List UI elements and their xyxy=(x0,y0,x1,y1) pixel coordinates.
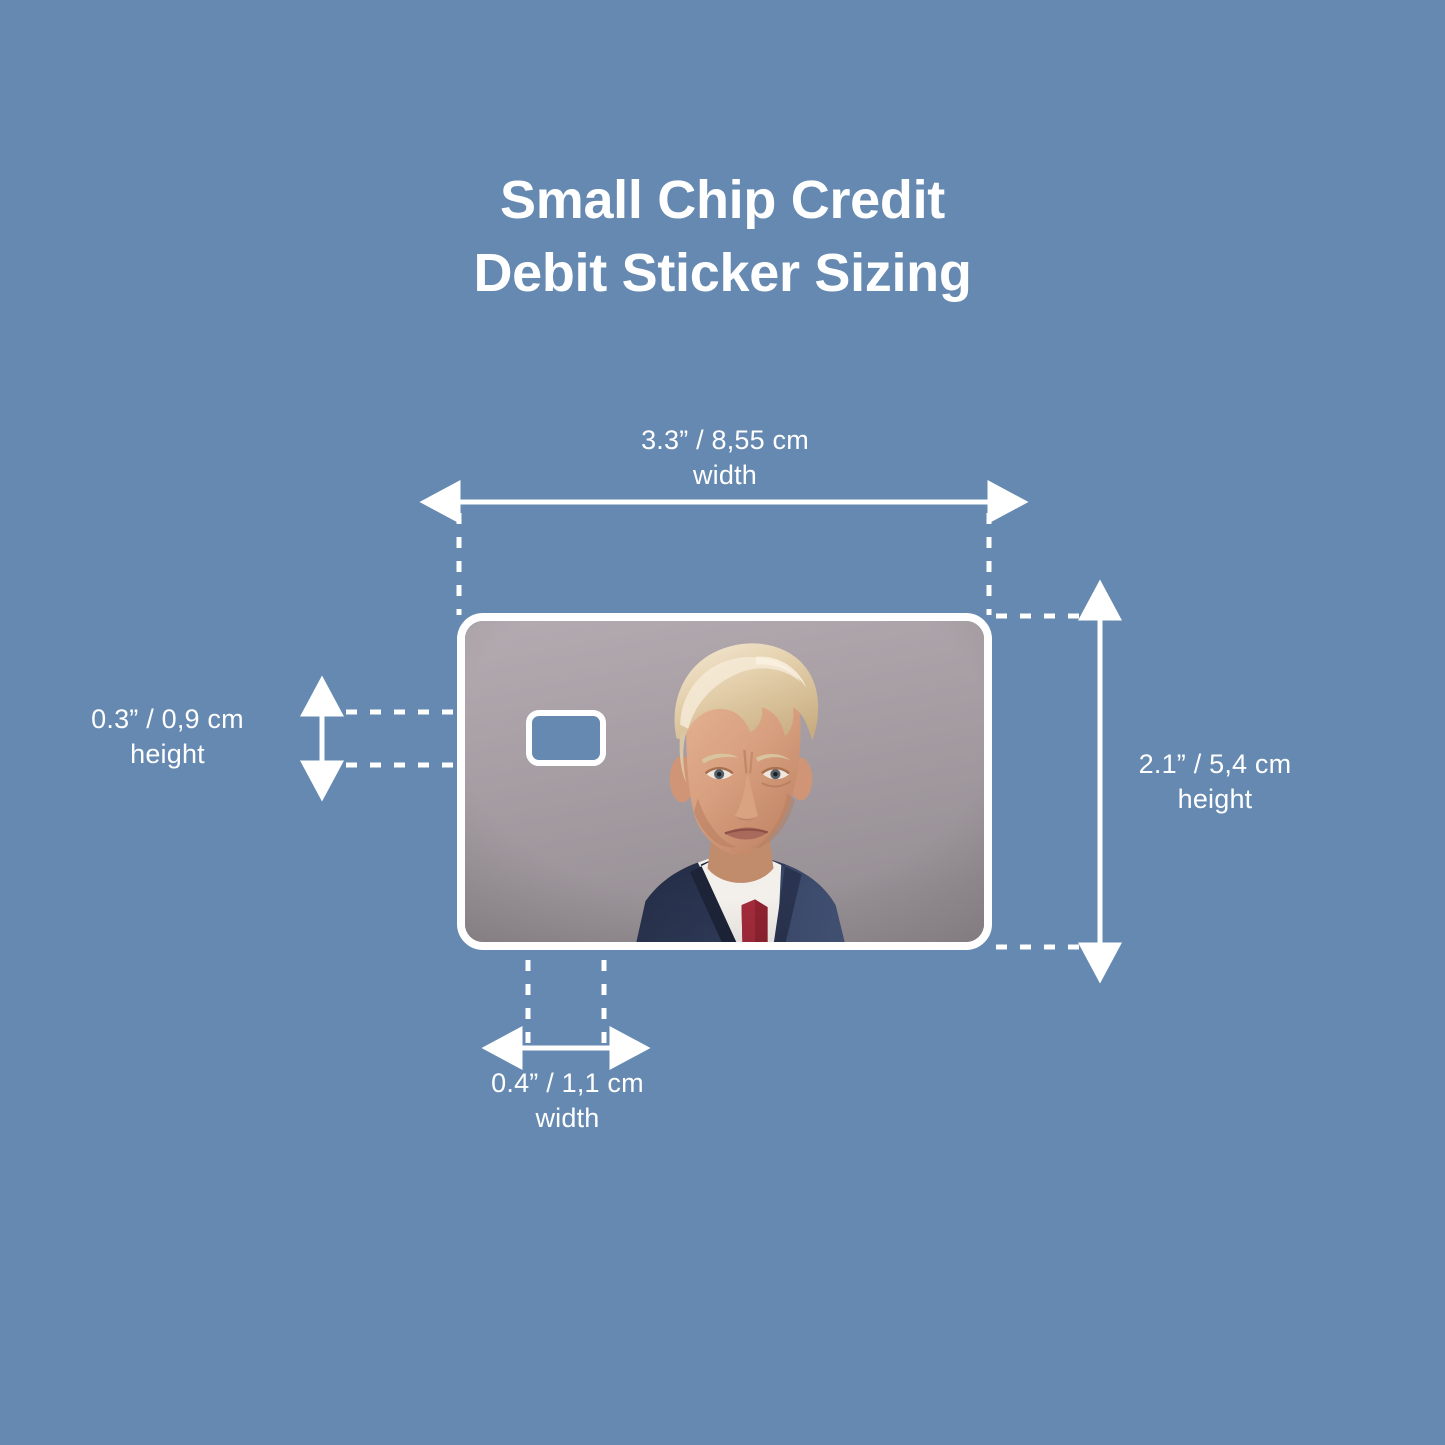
page-title: Small Chip Credit Debit Sticker Sizing xyxy=(0,164,1445,309)
sticker-sizing-diagram: Small Chip Credit Debit Sticker Sizing xyxy=(0,0,1445,1445)
chip-width-axis: width xyxy=(340,1101,795,1136)
card-height-label: 2.1” / 5,4 cm height xyxy=(1040,747,1390,816)
page-title-line-2: Debit Sticker Sizing xyxy=(0,237,1445,309)
chip-height-value: 0.3” / 0,9 cm xyxy=(91,704,244,734)
card-artwork xyxy=(465,621,984,942)
chip-height-label: 0.3” / 0,9 cm height xyxy=(40,702,295,771)
chip-cutout xyxy=(526,710,606,766)
page-title-line-1: Small Chip Credit xyxy=(0,164,1445,236)
chip-width-label: 0.4” / 1,1 cm width xyxy=(340,1066,795,1135)
credit-card-sticker xyxy=(457,613,992,950)
card-width-label: 3.3” / 8,55 cm width xyxy=(495,423,955,492)
card-width-axis: width xyxy=(495,458,955,493)
card-height-value: 2.1” / 5,4 cm xyxy=(1139,749,1292,779)
chip-width-value: 0.4” / 1,1 cm xyxy=(491,1068,644,1098)
card-width-guide xyxy=(458,502,990,615)
card-width-value: 3.3” / 8,55 cm xyxy=(641,425,809,455)
mugshot-portrait-illustration xyxy=(465,621,984,942)
card-height-axis: height xyxy=(1040,782,1390,817)
chip-height-axis: height xyxy=(40,737,295,772)
